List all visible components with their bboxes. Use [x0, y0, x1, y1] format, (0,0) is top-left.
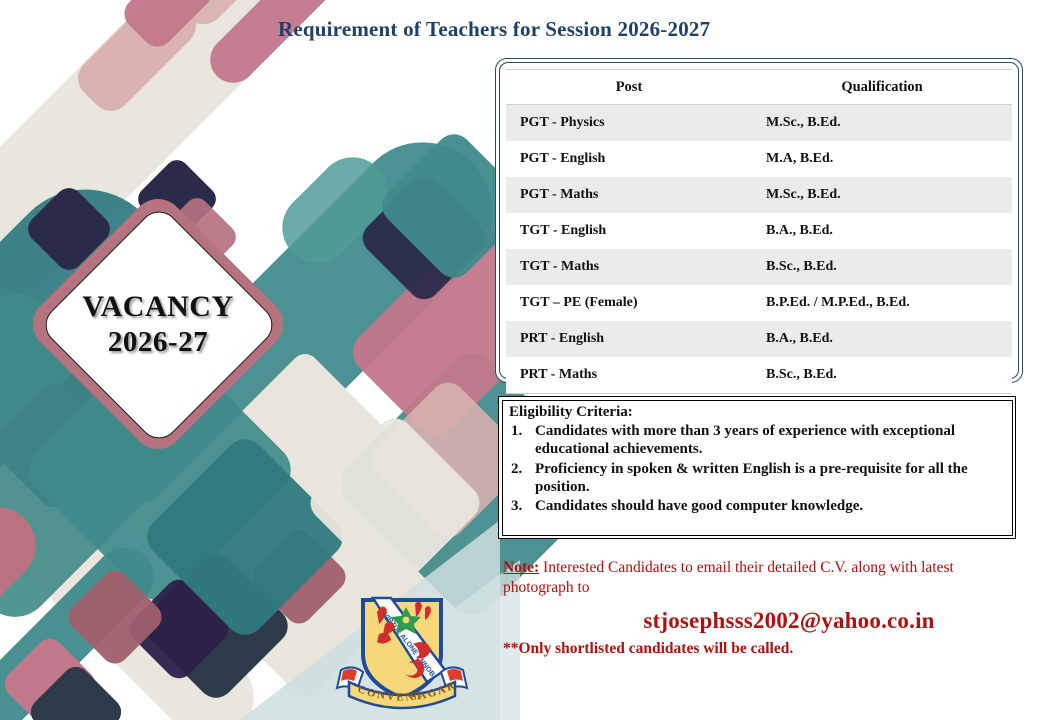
cell-post: PRT - Maths — [506, 357, 752, 394]
note-section: Note: Interested Candidates to email the… — [503, 558, 1023, 658]
cell-post: PGT - English — [506, 141, 752, 177]
vacancy-badge-line1: VACANCY — [82, 289, 233, 324]
vacancy-badge: VACANCY 2026-27 — [62, 228, 254, 420]
column-header-qualification: Qualification — [752, 70, 1012, 105]
vacancy-badge-text: VACANCY 2026-27 — [62, 228, 254, 420]
cell-post: PRT - English — [506, 321, 752, 357]
note-label: Note: — [503, 559, 539, 576]
vacancy-table: Post Qualification PGT - Physics M.Sc., … — [506, 69, 1012, 394]
table-header-row: Post Qualification — [506, 70, 1012, 105]
cell-qualification: M.Sc., B.Ed. — [752, 105, 1012, 142]
cell-qualification: B.Sc., B.Ed. — [752, 249, 1012, 285]
cell-qualification: B.A., B.Ed. — [752, 213, 1012, 249]
eligibility-list: 1. Candidates with more than 3 years of … — [509, 422, 1007, 515]
eligibility-box: Eligibility Criteria: 1. Candidates with… — [498, 396, 1016, 539]
contact-email[interactable]: stjosephsss2002@yahoo.co.in — [555, 608, 1023, 634]
column-header-post: Post — [506, 70, 752, 105]
table-row[interactable]: PGT - Physics M.Sc., B.Ed. — [506, 105, 1012, 142]
eligibility-item-text: Candidates should have good computer kno… — [535, 498, 863, 514]
table-row[interactable]: TGT – PE (Female) B.P.Ed. / M.P.Ed., B.E… — [506, 285, 1012, 321]
eligibility-item-text: Candidates with more than 3 years of exp… — [535, 423, 955, 457]
table-row[interactable]: PRT - Maths B.Sc., B.Ed. — [506, 357, 1012, 394]
cell-post: TGT - English — [506, 213, 752, 249]
eligibility-item: 1. Candidates with more than 3 years of … — [509, 422, 1007, 459]
vacancy-table-card: Post Qualification PGT - Physics M.Sc., … — [495, 58, 1023, 383]
cell-post: PGT - Maths — [506, 177, 752, 213]
table-row[interactable]: PGT - English M.A, B.Ed. — [506, 141, 1012, 177]
cell-qualification: B.A., B.Ed. — [752, 321, 1012, 357]
cell-qualification: M.Sc., B.Ed. — [752, 177, 1012, 213]
vacancy-badge-line2: 2026-27 — [108, 325, 208, 359]
cell-post: PGT - Physics — [506, 105, 752, 142]
cell-post: TGT – PE (Female) — [506, 285, 752, 321]
note-text: Interested Candidates to email their det… — [503, 559, 954, 596]
school-crest-logo: VIRTUE ALONE ENNOBLES CONVENT — [327, 578, 477, 720]
eligibility-item-number: 3. — [511, 497, 522, 515]
table-row[interactable]: TGT - English B.A., B.Ed. — [506, 213, 1012, 249]
cell-qualification: B.P.Ed. / M.P.Ed., B.Ed. — [752, 285, 1012, 321]
eligibility-item: 3. Candidates should have good computer … — [509, 497, 1007, 515]
eligibility-title: Eligibility Criteria: — [509, 404, 1007, 421]
cell-qualification: B.Sc., B.Ed. — [752, 357, 1012, 394]
table-row[interactable]: PRT - English B.A., B.Ed. — [506, 321, 1012, 357]
eligibility-item-text: Proficiency in spoken & written English … — [535, 461, 968, 495]
note-line: Note: Interested Candidates to email the… — [503, 558, 1023, 598]
eligibility-item: 2. Proficiency in spoken & written Engli… — [509, 460, 1007, 497]
table-row[interactable]: PGT - Maths M.Sc., B.Ed. — [506, 177, 1012, 213]
page-title: Requirement of Teachers for Session 2026… — [278, 17, 710, 42]
poster-root: VACANCY 2026-27 VIRTUE ALONE ENNOBLES — [0, 0, 1040, 720]
eligibility-item-number: 2. — [511, 460, 522, 478]
table-row[interactable]: TGT - Maths B.Sc., B.Ed. — [506, 249, 1012, 285]
eligibility-item-number: 1. — [511, 422, 522, 440]
cell-qualification: M.A, B.Ed. — [752, 141, 1012, 177]
shortlist-note: **Only shortlisted candidates will be ca… — [503, 640, 1023, 658]
cell-post: TGT - Maths — [506, 249, 752, 285]
